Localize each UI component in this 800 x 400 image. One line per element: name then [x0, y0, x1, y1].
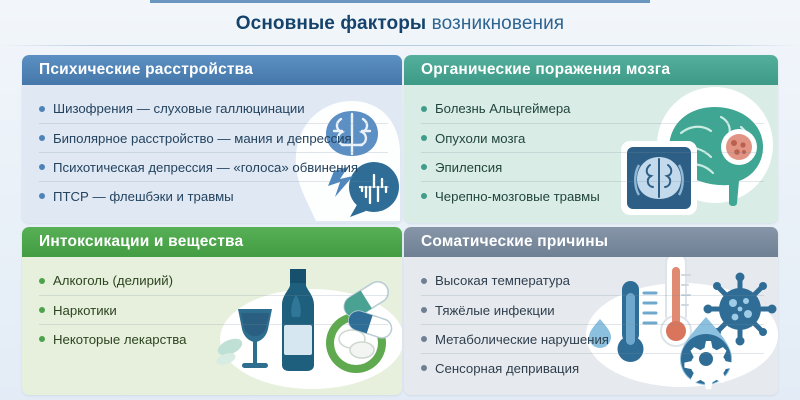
bullet-dot-icon: [421, 365, 427, 371]
card-title-organic-brain-damage: Органические поражения мозга: [421, 61, 670, 79]
list-item[interactable]: Шизофрения — слуховые галлюцинации: [39, 94, 388, 123]
list-item[interactable]: Тяжёлые инфекции: [421, 295, 764, 324]
card-mental-disorders[interactable]: Психические расстройства: [22, 55, 402, 223]
bullet-dot-icon: [421, 336, 427, 342]
card-organic-brain-damage[interactable]: Органические поражения мозга: [404, 55, 778, 223]
list-item[interactable]: Высокая температура: [421, 266, 764, 295]
card-header-mental-disorders: Психические расстройства: [22, 55, 402, 85]
bullet-list-somatic-causes: Высокая температура Тяжёлые инфекции Мет…: [404, 257, 778, 388]
card-header-organic-brain-damage: Органические поражения мозга: [404, 55, 778, 85]
bullet-dot-icon: [421, 307, 427, 313]
bullet-dot-icon: [421, 106, 427, 112]
list-item-label: Наркотики: [53, 303, 117, 318]
list-item[interactable]: Болезнь Альцгеймера: [421, 94, 764, 123]
card-title-intoxications-substances: Интоксикации и вещества: [39, 233, 243, 251]
card-header-intoxications-substances: Интоксикации и вещества: [22, 227, 402, 257]
list-item[interactable]: Черепно-мозговые травмы: [421, 181, 764, 210]
list-item-label: Биполярное расстройство — мания и депрес…: [53, 131, 352, 146]
bullet-list-mental-disorders: Шизофрения — слуховые галлюцинации Бипол…: [22, 85, 402, 216]
list-item-label: Сенсорная депривация: [435, 361, 579, 376]
list-item[interactable]: Эпилепсия: [421, 152, 764, 181]
bullet-list-intoxications-substances: Алкоголь (делирий) Наркотики Некоторые л…: [22, 257, 402, 359]
bullet-dot-icon: [421, 193, 427, 199]
list-item[interactable]: Некоторые лекарства: [39, 324, 388, 353]
card-title-somatic-causes: Соматические причины: [421, 233, 608, 251]
page-title-strong: Основные факторы: [236, 13, 426, 34]
list-item[interactable]: Психотическая депрессия — «голоса» обвин…: [39, 152, 388, 181]
list-item[interactable]: Наркотики: [39, 295, 388, 324]
top-divider-rule: [150, 0, 650, 3]
page-title-light: возникновения: [432, 13, 565, 34]
factor-card-grid: Психические расстройства: [22, 55, 778, 391]
card-intoxications-substances[interactable]: Интоксикации и вещества: [22, 227, 402, 395]
list-item-label: Опухоли мозга: [435, 131, 525, 146]
list-item-label: Психотическая депрессия — «голоса» обвин…: [53, 160, 358, 175]
bullet-dot-icon: [39, 193, 45, 199]
list-item-label: ПТСР — флешбэки и травмы: [53, 189, 234, 204]
bullet-dot-icon: [39, 164, 45, 170]
card-title-mental-disorders: Психические расстройства: [39, 61, 253, 79]
bullet-list-organic-brain-damage: Болезнь Альцгеймера Опухоли мозга Эпилеп…: [404, 85, 778, 216]
bullet-dot-icon: [39, 307, 45, 313]
list-item-label: Черепно-мозговые травмы: [435, 189, 600, 204]
list-item[interactable]: Биполярное расстройство — мания и депрес…: [39, 123, 388, 152]
bullet-dot-icon: [421, 135, 427, 141]
list-item-label: Шизофрения — слуховые галлюцинации: [53, 101, 305, 116]
bullet-dot-icon: [421, 164, 427, 170]
bullet-dot-icon: [421, 278, 427, 284]
list-item[interactable]: Алкоголь (делирий): [39, 266, 388, 295]
list-item[interactable]: Опухоли мозга: [421, 123, 764, 152]
list-item[interactable]: Сенсорная депривация: [421, 353, 764, 382]
title-divider: [0, 45, 800, 46]
list-item-label: Метаболические нарушения: [435, 332, 609, 347]
bullet-dot-icon: [39, 278, 45, 284]
bullet-dot-icon: [39, 106, 45, 112]
list-item-label: Эпилепсия: [435, 160, 502, 175]
list-item-label: Некоторые лекарства: [53, 332, 186, 347]
list-item-label: Тяжёлые инфекции: [435, 303, 555, 318]
list-item[interactable]: ПТСР — флешбэки и травмы: [39, 181, 388, 210]
list-item[interactable]: Метаболические нарушения: [421, 324, 764, 353]
card-somatic-causes[interactable]: Соматические причины: [404, 227, 778, 395]
list-item-label: Болезнь Альцгеймера: [435, 101, 571, 116]
list-item-label: Высокая температура: [435, 273, 570, 288]
bullet-dot-icon: [39, 336, 45, 342]
list-item-label: Алкоголь (делирий): [53, 273, 173, 288]
card-header-somatic-causes: Соматические причины: [404, 227, 778, 257]
page-title: Основные факторы возникновения: [0, 13, 800, 35]
bullet-dot-icon: [39, 135, 45, 141]
